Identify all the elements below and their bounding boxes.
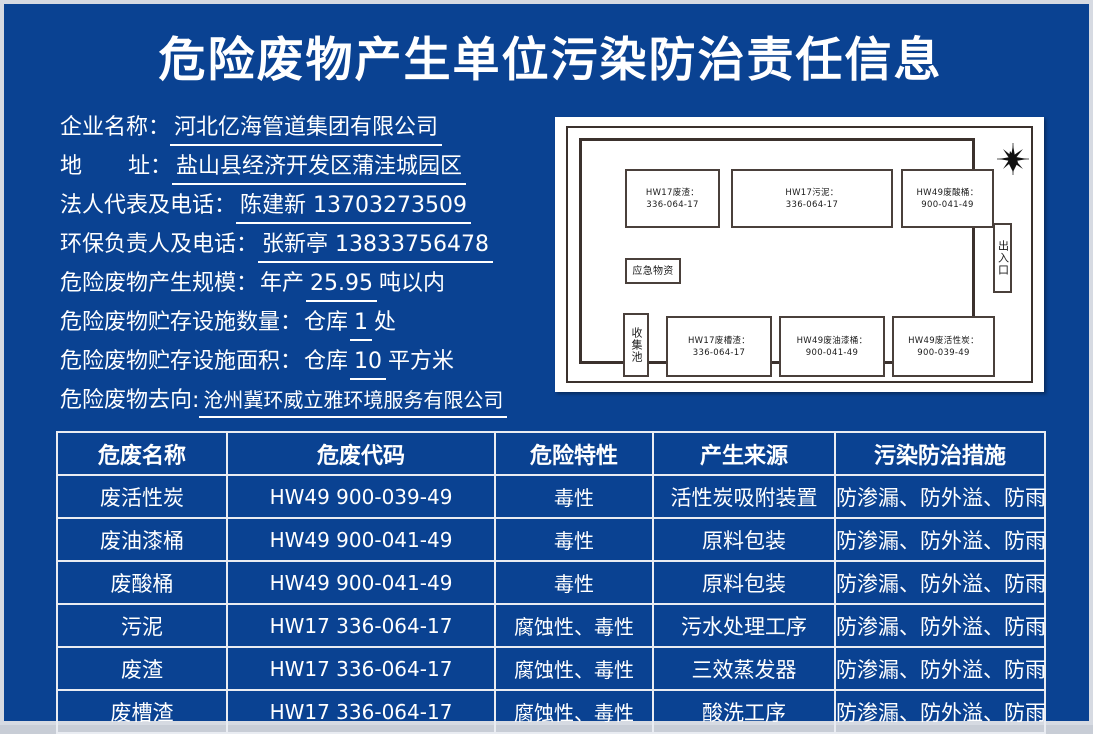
- signboard: 危险废物产生单位污染防治责任信息 企业名称：河北亿海管道集团有限公司 地址：盐山…: [0, 0, 1093, 725]
- info-row-address: 地址：盐山县经济开发区蒲洼城园区: [60, 147, 540, 186]
- env-officer-value: 张新亭 13833756478: [258, 230, 493, 263]
- scale-suffix: 吨以内: [377, 269, 447, 299]
- table-row: 废活性炭 HW49 900-039-49 毒性 活性炭吸附装置 防渗漏、防外溢、…: [57, 475, 1045, 518]
- facility-area-prefix: 仓库: [302, 347, 350, 377]
- cell-hazard-property: 腐蚀性、毒性: [495, 604, 653, 647]
- cell-waste-name: 废油漆桶: [57, 518, 227, 561]
- info-row-company: 企业名称：河北亿海管道集团有限公司: [60, 108, 540, 147]
- cell-waste-name: 废槽渣: [57, 690, 227, 733]
- cell-measures: 防渗漏、防外溢、防雨: [835, 518, 1045, 561]
- company-value: 河北亿海管道集团有限公司: [170, 113, 442, 146]
- destination-label: 危险废物去向:: [60, 381, 199, 420]
- zone-code: 900-041-49: [921, 199, 973, 211]
- cell-waste-code: HW17 336-064-17: [227, 690, 495, 733]
- address-value: 盐山县经济开发区蒲洼城园区: [172, 152, 466, 185]
- cell-hazard-property: 腐蚀性、毒性: [495, 690, 653, 733]
- cell-hazard-property: 毒性: [495, 518, 653, 561]
- cell-waste-name: 废渣: [57, 647, 227, 690]
- zone-box-hw49-paint-drum: HW49废油漆桶： 900-041-49: [779, 316, 885, 377]
- zone-code: 336-064-17: [646, 199, 698, 211]
- legal-rep-label: 法人代表及电话：: [60, 186, 236, 225]
- zone-name: HW17废渣：: [646, 187, 699, 199]
- cell-hazard-property: 腐蚀性、毒性: [495, 647, 653, 690]
- env-officer-label: 环保负责人及电话：: [60, 225, 258, 264]
- table-header-row: 危废名称 危废代码 危险特性 产生来源 污染防治措施: [57, 432, 1045, 475]
- cell-waste-code: HW49 900-041-49: [227, 561, 495, 604]
- column-header-hazard-property: 危险特性: [495, 432, 653, 475]
- cell-waste-name: 废活性炭: [57, 475, 227, 518]
- cell-waste-code: HW17 336-064-17: [227, 647, 495, 690]
- page-title: 危险废物产生单位污染防治责任信息: [4, 32, 1093, 90]
- diagram-outer-frame: HW17废渣： 336-064-17 HW17污泥： 336-064-17 HW…: [566, 126, 1033, 383]
- zone-code: 900-041-49: [806, 347, 858, 359]
- cell-measures: 防渗漏、防外溢、防雨: [835, 690, 1045, 733]
- collection-pool-box: 收集池: [623, 313, 649, 377]
- cell-source: 原料包装: [653, 561, 835, 604]
- cell-hazard-property: 毒性: [495, 561, 653, 604]
- column-header-measures: 污染防治措施: [835, 432, 1045, 475]
- facility-area-value: 10: [350, 347, 386, 380]
- destination-value: 沧州冀环威立雅环境服务有限公司: [199, 385, 507, 418]
- company-info-block: 企业名称：河北亿海管道集团有限公司 地址：盐山县经济开发区蒲洼城园区 法人代表及…: [60, 108, 540, 420]
- info-row-facility-count: 危险废物贮存设施数量：仓库1处: [60, 303, 540, 342]
- scale-label: 危险废物产生规模：: [60, 264, 258, 303]
- facility-count-suffix: 处: [372, 308, 398, 338]
- facility-count-value: 1: [350, 308, 372, 341]
- address-label-a: 地: [60, 147, 82, 186]
- column-header-waste-code: 危废代码: [227, 432, 495, 475]
- zone-name: HW17废槽渣：: [688, 335, 750, 347]
- info-row-facility-area: 危险废物贮存设施面积：仓库10平方米: [60, 342, 540, 381]
- column-header-source: 产生来源: [653, 432, 835, 475]
- entrance-exit-box: 出入口: [993, 223, 1012, 293]
- scale-prefix: 年产: [258, 269, 306, 299]
- emergency-supplies-label: 应急物资: [632, 265, 673, 278]
- zone-box-hw17-tank-residue: HW17废槽渣： 336-064-17: [666, 316, 772, 377]
- info-row-destination: 危险废物去向:沧州冀环威立雅环境服务有限公司: [60, 381, 540, 420]
- cell-source: 活性炭吸附装置: [653, 475, 835, 518]
- cell-waste-name: 废酸桶: [57, 561, 227, 604]
- cell-waste-name: 污泥: [57, 604, 227, 647]
- info-row-scale: 危险废物产生规模：年产25.95吨以内: [60, 264, 540, 303]
- cell-source: 原料包装: [653, 518, 835, 561]
- company-label: 企业名称：: [60, 108, 170, 147]
- cell-measures: 防渗漏、防外溢、防雨: [835, 561, 1045, 604]
- table-row: 废酸桶 HW49 900-041-49 毒性 原料包装 防渗漏、防外溢、防雨: [57, 561, 1045, 604]
- zone-box-hw49-activated-carbon: HW49废活性炭： 900-039-49: [892, 316, 995, 377]
- cell-source: 三效蒸发器: [653, 647, 835, 690]
- column-header-waste-name: 危废名称: [57, 432, 227, 475]
- hazardous-waste-table: 危废名称 危废代码 危险特性 产生来源 污染防治措施 废活性炭 HW49 900…: [56, 431, 1046, 734]
- collection-pool-label: 收集池: [628, 327, 644, 363]
- zone-box-hw17-sludge: HW17污泥： 336-064-17: [731, 169, 893, 228]
- cell-measures: 防渗漏、防外溢、防雨: [835, 604, 1045, 647]
- legal-rep-value: 陈建新 13703273509: [236, 191, 471, 224]
- zone-box-hw17-waste-residue: HW17废渣： 336-064-17: [625, 169, 720, 228]
- table-row: 废渣 HW17 336-064-17 腐蚀性、毒性 三效蒸发器 防渗漏、防外溢、…: [57, 647, 1045, 690]
- zone-code: 336-064-17: [786, 199, 838, 211]
- facility-area-label: 危险废物贮存设施面积：: [60, 342, 302, 381]
- table-row: 污泥 HW17 336-064-17 腐蚀性、毒性 污水处理工序 防渗漏、防外溢…: [57, 604, 1045, 647]
- address-label-b: 址：: [128, 147, 172, 186]
- cell-measures: 防渗漏、防外溢、防雨: [835, 647, 1045, 690]
- cell-waste-code: HW49 900-039-49: [227, 475, 495, 518]
- zone-name: HW49废酸桶：: [916, 187, 978, 199]
- zone-code: 336-064-17: [693, 347, 745, 359]
- cell-waste-code: HW17 336-064-17: [227, 604, 495, 647]
- zone-name: HW49废油漆桶：: [797, 335, 868, 347]
- info-row-env-officer: 环保负责人及电话：张新亭 13833756478: [60, 225, 540, 264]
- zone-code: 900-039-49: [917, 347, 969, 359]
- entrance-exit-label: 出入口: [995, 240, 1011, 276]
- cell-measures: 防渗漏、防外溢、防雨: [835, 475, 1045, 518]
- storage-site-layout-diagram: HW17废渣： 336-064-17 HW17污泥： 336-064-17 HW…: [555, 117, 1044, 392]
- facility-count-label: 危险废物贮存设施数量：: [60, 303, 302, 342]
- zone-name: HW17污泥：: [785, 187, 838, 199]
- emergency-supplies-box: 应急物资: [625, 258, 681, 284]
- cell-waste-code: HW49 900-041-49: [227, 518, 495, 561]
- zone-box-hw49-acid-drum: HW49废酸桶： 900-041-49: [901, 169, 994, 228]
- cell-source: 酸洗工序: [653, 690, 835, 733]
- compass-north-icon: [996, 142, 1030, 176]
- cell-hazard-property: 毒性: [495, 475, 653, 518]
- zone-name: HW49废活性炭：: [908, 335, 979, 347]
- cell-source: 污水处理工序: [653, 604, 835, 647]
- diagram-inner-wall: HW17废渣： 336-064-17 HW17污泥： 336-064-17 HW…: [579, 138, 975, 364]
- table-row: 废槽渣 HW17 336-064-17 腐蚀性、毒性 酸洗工序 防渗漏、防外溢、…: [57, 690, 1045, 733]
- facility-count-prefix: 仓库: [302, 308, 350, 338]
- info-row-legal-rep: 法人代表及电话：陈建新 13703273509: [60, 186, 540, 225]
- scale-value: 25.95: [306, 269, 377, 302]
- facility-area-suffix: 平方米: [386, 347, 456, 377]
- table-row: 废油漆桶 HW49 900-041-49 毒性 原料包装 防渗漏、防外溢、防雨: [57, 518, 1045, 561]
